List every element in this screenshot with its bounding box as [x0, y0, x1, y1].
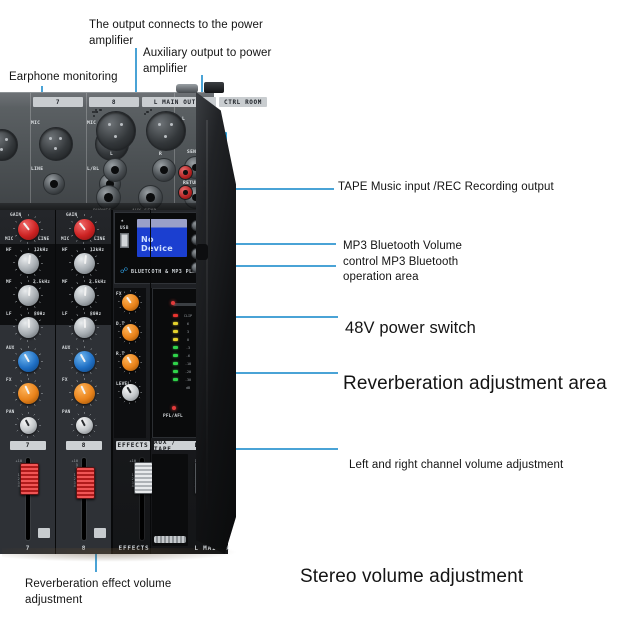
knob-mf-7[interactable]	[18, 285, 39, 306]
knob-effects-3[interactable]	[122, 354, 139, 371]
pfl-afl-led	[172, 406, 176, 410]
annotation-aux-output: Auxiliary output to power amplifier	[143, 46, 328, 77]
label-ctrl-left: L	[182, 117, 185, 122]
knob-fx-8[interactable]	[74, 383, 95, 404]
usb-label: USB	[120, 225, 129, 230]
label-pan-7: PAN	[6, 410, 15, 415]
label-mic-ch8: MIC	[87, 121, 96, 126]
label-pan-8: PAN	[62, 410, 71, 415]
fader-effects[interactable]	[134, 462, 153, 494]
lcd-text: No Device	[141, 235, 187, 253]
rear-label-ch8: 8	[89, 97, 139, 107]
annotation-mp3-bluetooth: MP3 Bluetooth Volume control MP3 Bluetoo…	[343, 239, 523, 286]
label-line-ch8: L/BL	[87, 167, 99, 172]
device-side-panel	[196, 92, 236, 554]
label-mic-7: MIC	[5, 237, 14, 242]
front-control-surface: GAIN MIC LINE HF 12kHz MF 2.5kHz LF 80Hz	[0, 210, 228, 554]
knob-hf-7[interactable]	[18, 253, 39, 274]
annotation-tape-rec: TAPE Music input /REC Recording output	[338, 180, 628, 196]
bluetooth-icon: ☍	[120, 267, 128, 275]
label-pfl-afl: PFL/AFL	[163, 414, 183, 419]
device-shadow	[2, 548, 238, 562]
fader-channel-7[interactable]	[20, 463, 39, 495]
xlr-input-ch7[interactable]	[39, 127, 73, 161]
annotation-lr-channel-volume: Left and right channel volume adjustment	[349, 458, 629, 474]
knob-hf-8[interactable]	[74, 253, 95, 274]
annotation-phantom-power: 48V power switch	[345, 318, 595, 339]
annotation-stereo-volume: Stereo volume adjustment	[300, 565, 630, 590]
knob-mf-8[interactable]	[74, 285, 95, 306]
label-fx-8: FX	[62, 378, 68, 383]
knob-effects-2[interactable]	[122, 324, 139, 341]
device-side-handle	[196, 244, 208, 260]
label-mf-7: MF	[6, 280, 12, 285]
knob-gain-7[interactable]	[18, 219, 39, 240]
rear-screw-cap	[176, 84, 198, 93]
rca-out-left[interactable]	[178, 165, 193, 180]
audio-mixer-device: 7 8 L MAIN OUT R CTRL ROOM MIC LINE MIC …	[0, 92, 236, 554]
diagram-canvas: Earphone monitoring The output connects …	[0, 0, 640, 640]
label-main-right: R	[159, 152, 162, 157]
knob-gain-8[interactable]	[74, 219, 95, 240]
main-out-jack-left[interactable]	[103, 158, 127, 182]
rear-jack-cap	[204, 82, 224, 93]
knob-effects-level[interactable]	[122, 384, 139, 401]
channel-tag-7: 7	[10, 441, 46, 450]
label-fx-7: FX	[6, 378, 12, 383]
fader-channel-8[interactable]	[76, 467, 95, 499]
knob-pan-7[interactable]	[20, 417, 37, 434]
label-line-ch7: LINE	[31, 167, 43, 172]
label-aux-8: AUX	[62, 346, 71, 351]
mp3-lcd-display: No Device	[137, 219, 187, 257]
knob-lf-7[interactable]	[18, 317, 39, 338]
tape-slot	[152, 454, 188, 546]
usb-port[interactable]	[120, 233, 129, 248]
rear-label-ctrl-room: CTRL ROOM	[219, 97, 267, 107]
knob-effects-1[interactable]	[122, 294, 139, 311]
channel-tag-8: 8	[66, 441, 102, 450]
aux-send-jack[interactable]	[138, 185, 163, 210]
phantom-power-led	[171, 301, 175, 305]
annotation-reverb-area: Reverberation adjustment area	[343, 372, 633, 397]
knob-aux-8[interactable]	[74, 351, 95, 372]
label-mic-ch7: MIC	[31, 121, 40, 126]
xlr-main-out-left[interactable]	[96, 111, 136, 151]
label-mf-8: MF	[62, 280, 68, 285]
label-hf-8: HF	[62, 248, 68, 253]
line-jack-ch7[interactable]	[43, 173, 65, 195]
knob-pan-8[interactable]	[76, 417, 93, 434]
xlr-input-ch6[interactable]	[0, 129, 18, 161]
channel-strip-8: GAIN MIC LINE HF 12kHz MF 2.5kHz LF 80Hz	[56, 210, 112, 554]
phones-jack[interactable]	[96, 185, 121, 210]
label-hf-7: HF	[6, 248, 12, 253]
channel-strip-7: GAIN MIC LINE HF 12kHz MF 2.5kHz LF 80Hz	[0, 210, 56, 554]
annotation-main-output: The output connects to the power amplifi…	[89, 18, 289, 49]
rear-label-ch7: 7	[33, 97, 83, 107]
label-lf-8: LF	[62, 312, 68, 317]
xlr-main-out-right[interactable]	[146, 111, 186, 151]
annotation-reverb-effect-volume: Reverberation effect volume adjustment	[25, 577, 225, 608]
rear-connector-panel: 7 8 L MAIN OUT R CTRL ROOM MIC LINE MIC …	[0, 92, 214, 215]
rca-in-left[interactable]	[178, 185, 193, 200]
knob-aux-7[interactable]	[18, 351, 39, 372]
knob-lf-8[interactable]	[74, 317, 95, 338]
aux-tape-tag: AUX / TAPE	[154, 441, 194, 450]
knob-fx-7[interactable]	[18, 383, 39, 404]
label-mic-8: MIC	[61, 237, 70, 242]
effects-tag: EFFECTS	[116, 441, 150, 450]
label-lf-7: LF	[6, 312, 12, 317]
main-out-jack-right[interactable]	[152, 158, 176, 182]
tape-slot-grip[interactable]	[154, 536, 186, 543]
label-aux-7: AUX	[6, 346, 15, 351]
label-main-left: L	[110, 152, 113, 157]
